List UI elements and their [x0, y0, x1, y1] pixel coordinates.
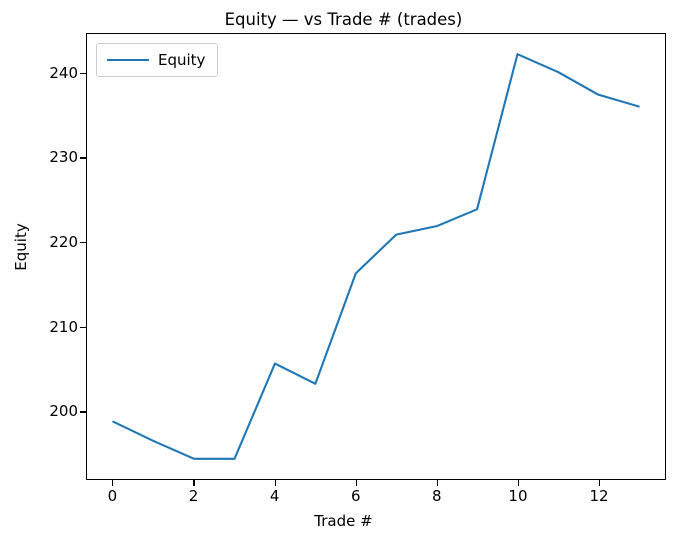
y-axis-tick-label: 240 — [8, 64, 78, 82]
x-axis-tick-mark — [112, 480, 113, 486]
y-axis-tick-label: 200 — [8, 402, 78, 420]
y-axis-tick-labels: 200210220230240 — [0, 0, 78, 546]
x-axis-tick-label: 0 — [82, 487, 142, 505]
y-axis-tick-mark — [80, 327, 86, 328]
x-axis-tick-mark — [437, 480, 438, 486]
chart-legend: Equity — [96, 43, 218, 77]
x-axis-tick-mark — [356, 480, 357, 486]
y-axis-tick-mark — [80, 411, 86, 412]
legend-entry-label: Equity — [158, 51, 205, 69]
chart-title: Equity — vs Trade # (trades) — [0, 10, 687, 29]
equity-line-series — [113, 54, 638, 459]
x-axis-tick-label: 8 — [407, 487, 467, 505]
y-axis-tick-label: 210 — [8, 318, 78, 336]
x-axis-label: Trade # — [0, 512, 687, 530]
x-axis-tick-label: 4 — [245, 487, 305, 505]
x-axis-tick-label: 10 — [488, 487, 548, 505]
y-axis-tick-label: 230 — [8, 148, 78, 166]
y-axis-tick-mark — [80, 73, 86, 74]
y-axis-tick-label: 220 — [8, 233, 78, 251]
legend-line-swatch — [107, 59, 149, 61]
x-axis-tick-mark — [599, 480, 600, 486]
x-axis-tick-label: 6 — [326, 487, 386, 505]
x-axis-tick-label: 12 — [569, 487, 629, 505]
chart-figure: Equity — vs Trade # (trades) Equity 2002… — [0, 0, 687, 546]
x-axis-tick-label: 2 — [163, 487, 223, 505]
x-axis-tick-mark — [193, 480, 194, 486]
y-axis-tick-mark — [80, 157, 86, 158]
y-axis-tick-mark — [80, 242, 86, 243]
x-axis-tick-mark — [275, 480, 276, 486]
plot-area — [86, 33, 666, 480]
plot-svg — [87, 34, 665, 479]
x-axis-tick-mark — [518, 480, 519, 486]
